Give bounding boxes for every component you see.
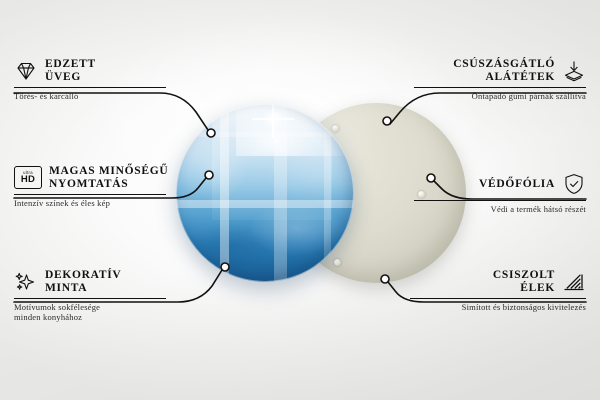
feature-title-group: DEKORATÍV MINTA — [45, 269, 121, 294]
feature-title-group: VÉDŐFÓLIA — [479, 178, 555, 191]
polished-edge-icon — [562, 270, 586, 294]
feature-title-line1: EDZETT — [45, 58, 96, 71]
feature-divider — [14, 298, 166, 299]
feature-header: CSÚSZÁSGÁTLÓ ALÁTÉTEK — [414, 58, 586, 83]
anti-slip-pad-icon — [562, 59, 586, 83]
feature-title-group: EDZETT ÜVEG — [45, 58, 96, 83]
feature-callout-dekorativ-minta[interactable]: DEKORATÍV MINTA Motívumok sokfélesége mi… — [14, 269, 166, 322]
feature-callout-csuszasgatlo-alatetek[interactable]: CSÚSZÁSGÁTLÓ ALÁTÉTEK Öntapadó gumi párn… — [414, 58, 586, 101]
glass-edge-ring — [176, 104, 354, 282]
feature-title-line2: ALÁTÉTEK — [485, 71, 555, 84]
feature-title-line1: CSISZOLT — [493, 269, 555, 282]
feature-header: DEKORATÍV MINTA — [14, 269, 166, 294]
feature-header: CSISZOLT ÉLEK — [410, 269, 586, 294]
product-infographic: EDZETT ÜVEG Törés- és karcálló ultra HD … — [0, 0, 600, 400]
shield-check-icon — [562, 172, 586, 196]
feature-title-line2: ÉLEK — [520, 282, 555, 295]
sparkles-icon — [14, 270, 38, 294]
feature-title-line2: MINTA — [45, 282, 121, 295]
feature-callout-csiszolt-elek[interactable]: CSISZOLT ÉLEK Simított és biztonságos ki… — [410, 269, 586, 312]
feature-divider — [410, 298, 586, 299]
feature-title-line1: VÉDŐFÓLIA — [479, 178, 555, 191]
front-disc — [176, 104, 354, 282]
feature-divider — [14, 194, 166, 195]
feature-callout-vedofolia[interactable]: VÉDŐFÓLIA Védi a termék hátsó részét — [414, 172, 586, 214]
feature-subtitle: Öntapadó gumi párnák szállítva — [414, 91, 586, 101]
feature-title-line1: MAGAS MINŐSÉGŰ — [49, 165, 168, 178]
feature-title-group: CSISZOLT ÉLEK — [493, 269, 555, 294]
feature-header: EDZETT ÜVEG — [14, 58, 166, 83]
feature-divider — [14, 87, 166, 88]
ultra-hd-badge-hd-text: HD — [21, 175, 35, 185]
feature-header: VÉDŐFÓLIA — [414, 172, 586, 196]
feature-callout-edzett-uveg[interactable]: EDZETT ÜVEG Törés- és karcálló — [14, 58, 166, 101]
rubber-pad — [334, 259, 341, 266]
feature-title-line2: NYOMTATÁS — [49, 178, 168, 191]
feature-header: ultra HD MAGAS MINŐSÉGŰ NYOMTATÁS — [14, 165, 166, 190]
feature-title-line1: CSÚSZÁSGÁTLÓ — [453, 58, 555, 71]
feature-title-group: MAGAS MINŐSÉGŰ NYOMTATÁS — [49, 165, 168, 190]
feature-divider — [414, 87, 586, 88]
feature-title-line1: DEKORATÍV — [45, 269, 121, 282]
feature-subtitle: Törés- és karcálló — [14, 91, 166, 101]
feature-divider — [414, 200, 586, 201]
feature-title-line2: ÜVEG — [45, 71, 96, 84]
feature-subtitle: Motívumok sokfélesége — [14, 302, 166, 312]
feature-subtitle: Intenzív színek és éles kép — [14, 198, 166, 208]
feature-subtitle: Védi a termék hátsó részét — [414, 204, 586, 214]
feature-subtitle: Simított és biztonságos kivitelezés — [410, 302, 586, 312]
diamond-icon — [14, 59, 38, 83]
feature-subtitle-second-line: minden konyhához — [14, 312, 166, 322]
ultra-hd-badge-icon: ultra HD — [14, 166, 42, 189]
feature-callout-magas-minosegu-nyomtatas[interactable]: ultra HD MAGAS MINŐSÉGŰ NYOMTATÁS Intenz… — [14, 165, 166, 208]
feature-title-group: CSÚSZÁSGÁTLÓ ALÁTÉTEK — [453, 58, 555, 83]
